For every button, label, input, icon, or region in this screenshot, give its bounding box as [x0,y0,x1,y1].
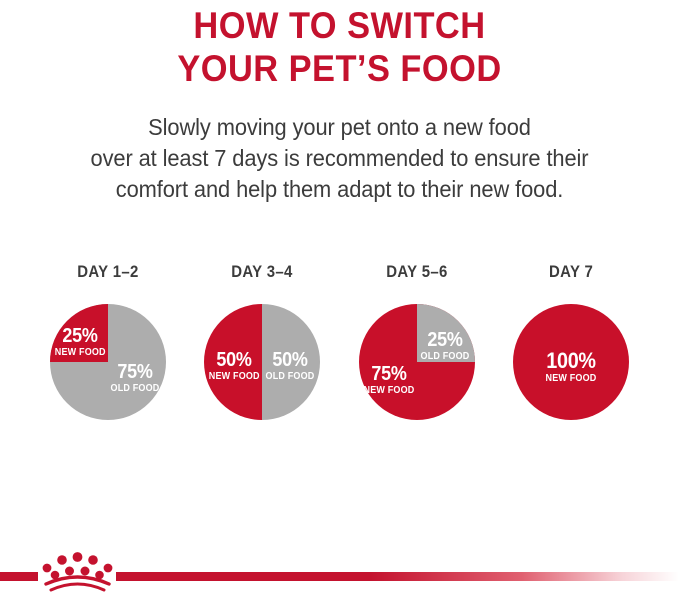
pie-slice-old-food-3 [417,304,475,362]
pie-chart-day-3-4: DAY 3–4 50% NEW FOOD 50% OLD FOOD [192,262,332,420]
footer-bar-right [116,572,679,581]
pie-slice-new-food-2 [204,304,262,420]
intro-line-3: comfort and help them adapt to their new… [17,174,662,205]
pie-disc-1 [50,304,166,420]
pie-chart-row: DAY 1–2 25% NEW FOOD 75% OLD FOOD DAY 3–… [0,262,679,432]
pie-graphic-3: 25% OLD FOOD 75% NEW FOOD [359,304,475,420]
pie-disc-2 [204,304,320,420]
pie-slice-new-food-4 [513,304,629,420]
pie-slice-old-food-2 [262,304,320,420]
pie-slice-new-food-1 [50,304,108,362]
footer-bar-left [0,572,38,581]
page-title-line-2: YOUR PET’S FOOD [24,47,655,90]
intro-line-1: Slowly moving your pet onto a new food [17,112,662,143]
pie-graphic-1: 25% NEW FOOD 75% OLD FOOD [50,304,166,420]
page-title-line-1: HOW TO SWITCH [24,4,655,47]
pie-graphic-4: 100% NEW FOOD [513,304,629,420]
page-title: HOW TO SWITCH YOUR PET’S FOOD [0,4,679,90]
royal-canin-crown-icon [41,550,114,592]
pie-chart-day-7: DAY 7 100% NEW FOOD [501,262,641,420]
pie-disc-4 [513,304,629,420]
day-label-3: DAY 5–6 [386,262,448,282]
day-label-2: DAY 3–4 [232,262,294,282]
pie-chart-day-5-6: DAY 5–6 25% OLD FOOD 75% NEW FOOD [347,262,487,420]
day-label-4: DAY 7 [549,262,593,282]
pie-disc-3 [359,304,475,420]
day-label-1: DAY 1–2 [77,262,139,282]
pie-graphic-2: 50% NEW FOOD 50% OLD FOOD [204,304,320,420]
intro-line-2: over at least 7 days is recommended to e… [17,143,662,174]
pie-chart-day-1-2: DAY 1–2 25% NEW FOOD 75% OLD FOOD [38,262,178,420]
footer [0,548,679,594]
intro-paragraph: Slowly moving your pet onto a new food o… [0,112,679,205]
